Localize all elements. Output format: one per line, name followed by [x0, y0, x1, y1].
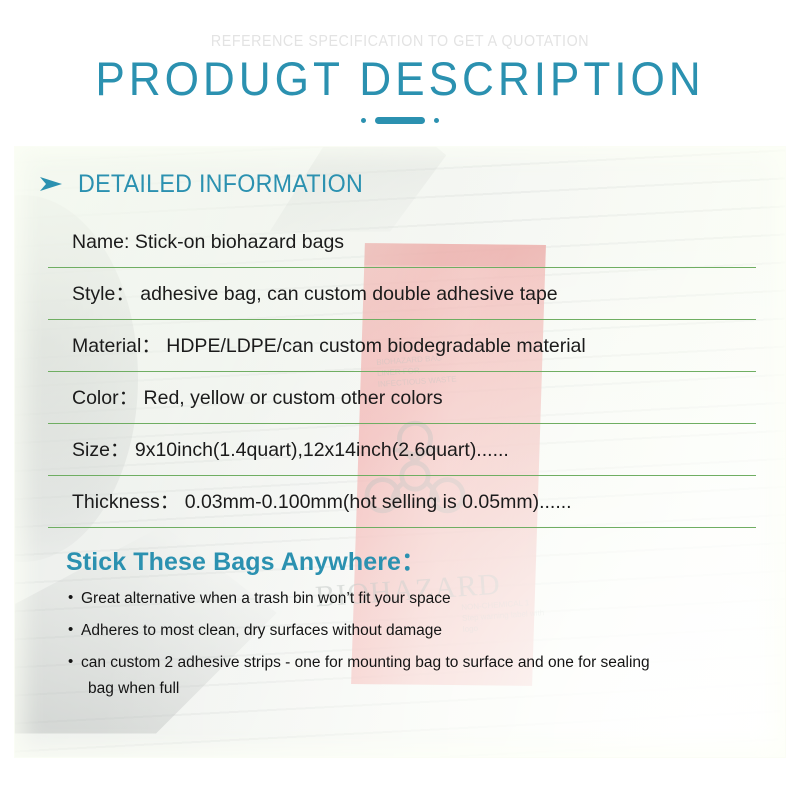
- header-eyebrow: REFERENCE SPECIFICATION TO GET A QUOTATI…: [32, 33, 768, 51]
- detail-panel: BIOHAZARD BIOHAZARD BAG LINER FOR INFECT…: [14, 146, 786, 758]
- product-description-page: REFERENCE SPECIFICATION TO GET A QUOTATI…: [0, 0, 800, 800]
- title-divider: [361, 117, 439, 124]
- spec-text-size: Size： 9x10inch(1.4quart),12x14inch(2.6qu…: [48, 438, 509, 462]
- divider-dot-left: [361, 118, 366, 123]
- triangle-right-icon: [38, 176, 64, 192]
- spec-row: Size： 9x10inch(1.4quart),12x14inch(2.6qu…: [48, 424, 756, 476]
- spec-row: Style： adhesive bag, can custom double a…: [48, 268, 756, 320]
- spec-text-color: Color： Red, yellow or custom other color…: [48, 386, 443, 410]
- benefit-list: Great alternative when a trash bin won’t…: [68, 589, 768, 711]
- section-heading-label: DETAILED INFORMATION: [78, 172, 363, 197]
- spec-text-style: Style： adhesive bag, can custom double a…: [48, 282, 558, 306]
- spec-row: Thickness： 0.03mm-0.100mm(hot selling is…: [48, 476, 756, 528]
- spec-row: Color： Red, yellow or custom other color…: [48, 372, 756, 424]
- divider-bar: [375, 117, 425, 124]
- spec-text-name: Name: Stick-on biohazard bags: [48, 230, 344, 254]
- sub-heading: Stick These Bags Anywhere：: [66, 548, 426, 576]
- spec-text-material: Material： HDPE/LDPE/can custom biodegrad…: [48, 334, 586, 358]
- bullet-text-3: can custom 2 adhesive strips - one for m…: [81, 654, 650, 671]
- bullet-text-3-wrap: bag when full: [81, 679, 768, 699]
- spec-row: Material： HDPE/LDPE/can custom biodegrad…: [48, 320, 756, 372]
- section-heading: DETAILED INFORMATION: [38, 166, 384, 202]
- page-header: REFERENCE SPECIFICATION TO GET A QUOTATI…: [0, 0, 800, 140]
- list-item: can custom 2 adhesive strips - one for m…: [68, 653, 768, 699]
- list-item: Great alternative when a trash bin won’t…: [68, 589, 768, 609]
- page-title: PRODUGT DESCRIPTION: [24, 55, 776, 102]
- panel-content: DETAILED INFORMATION Name: Stick-on bioh…: [14, 146, 786, 758]
- spec-row: Name: Stick-on biohazard bags: [48, 216, 756, 268]
- list-item: Adheres to most clean, dry surfaces with…: [68, 621, 768, 641]
- bullet-text-2: Adheres to most clean, dry surfaces with…: [81, 622, 442, 639]
- divider-dot-right: [434, 118, 439, 123]
- spec-text-thickness: Thickness： 0.03mm-0.100mm(hot selling is…: [48, 490, 572, 514]
- bullet-text-1: Great alternative when a trash bin won’t…: [81, 590, 451, 607]
- specification-list: Name: Stick-on biohazard bags Style： adh…: [48, 216, 756, 528]
